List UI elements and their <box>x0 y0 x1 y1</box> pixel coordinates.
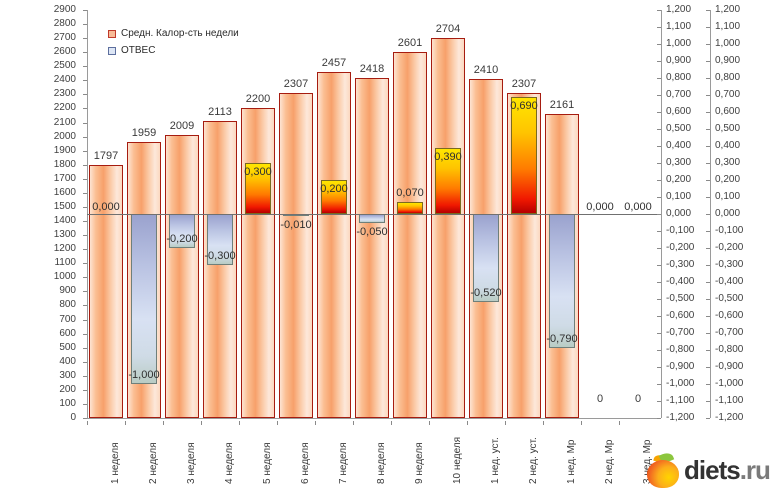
x-axis-tick <box>163 421 164 425</box>
x-axis-category-label: 2 нед. Мр <box>604 440 615 485</box>
x-axis-tick <box>391 421 392 425</box>
y-axis-tick-label: 500 <box>30 343 76 353</box>
x-axis-category-label: 10 неделя <box>452 437 463 484</box>
y-axis-tick-label: 600 <box>30 329 76 339</box>
y-axis-right-line <box>661 10 662 418</box>
y-axis-tick-label: 0,800 <box>715 73 740 83</box>
y-axis-tick-label: 2600 <box>30 47 76 57</box>
y-axis-tick-label: 1100 <box>30 258 76 268</box>
weight-bar[interactable] <box>131 214 157 384</box>
weight-value-label: -0,010 <box>271 219 321 231</box>
logo-name: diets <box>684 455 740 485</box>
y-axis-tick-label: -1,200 <box>715 413 743 423</box>
weight-value-label: 0,070 <box>385 187 435 199</box>
calorie-value-label: 2418 <box>345 63 399 75</box>
weight-value-label: -0,520 <box>461 287 511 299</box>
x-axis-category-label: 3 неделя <box>186 442 197 484</box>
calorie-bar[interactable] <box>203 121 237 418</box>
y-axis-tick-label: -0,400 <box>715 277 743 287</box>
y-axis-tick-label: 1400 <box>30 216 76 226</box>
legend-label-calories: Средн. Калор-сть недели <box>121 28 239 39</box>
calorie-value-label: 2009 <box>155 120 209 132</box>
y-axis-tick-label: 2500 <box>30 61 76 71</box>
y-axis-tick-label: -0,900 <box>715 362 743 372</box>
y-axis-tick-label: 1,200 <box>666 5 691 15</box>
legend-item-calories[interactable]: Средн. Калор-сть недели <box>108 25 239 42</box>
y-axis-tick-label: -0,700 <box>715 328 743 338</box>
y-axis-tick-label: 2900 <box>30 5 76 15</box>
x-axis-tick <box>239 421 240 425</box>
y-axis-tick-label: 0,300 <box>666 158 691 168</box>
x-axis-category-label: 1 неделя <box>110 442 121 484</box>
y-axis-tick-label: -0,100 <box>666 226 694 236</box>
y-axis-tick-label: -0,800 <box>715 345 743 355</box>
y-axis-tick-label: 2800 <box>30 19 76 29</box>
weight-value-label: 0,690 <box>499 100 549 112</box>
y-axis-tick-label: -1,000 <box>666 379 694 389</box>
x-axis-category-label: 4 неделя <box>224 442 235 484</box>
y-axis-tick-label: 1,000 <box>715 39 740 49</box>
y-axis-tick-label: -0,300 <box>715 260 743 270</box>
y-axis-tick-label: 1500 <box>30 202 76 212</box>
y-axis-tick-label: 1,000 <box>666 39 691 49</box>
calorie-bar[interactable] <box>241 108 275 418</box>
weight-value-label: 0,000 <box>613 201 663 213</box>
y-axis-tick-label: 100 <box>30 399 76 409</box>
y-axis-tick-label: -0,300 <box>666 260 694 270</box>
y-axis-tick-label: 0,500 <box>715 124 740 134</box>
y-axis-tick-label: -1,000 <box>715 379 743 389</box>
y-axis-tick-label: -0,400 <box>666 277 694 287</box>
y-axis-tick-label: -0,100 <box>715 226 743 236</box>
y-axis-tick-label: -1,100 <box>715 396 743 406</box>
y-axis-tick-label: 0,200 <box>666 175 691 185</box>
x-axis-line <box>87 418 657 419</box>
x-axis-tick <box>543 421 544 425</box>
x-axis-category-label: 7 неделя <box>338 442 349 484</box>
calorie-value-label: 2307 <box>269 78 323 90</box>
weight-bar[interactable] <box>397 202 423 214</box>
weight-value-label: 0,200 <box>309 183 359 195</box>
zero-baseline <box>87 214 657 215</box>
y-axis-tick-label: 2000 <box>30 132 76 142</box>
calorie-bar[interactable] <box>393 52 427 418</box>
x-axis-category-label: 2 нед. уст. <box>528 437 539 484</box>
y-axis-tick-label: 0,900 <box>715 56 740 66</box>
weight-value-label: -0,300 <box>195 250 245 262</box>
legend-swatch-calories <box>108 30 116 38</box>
y-axis-tick-label: 0,400 <box>715 141 740 151</box>
x-axis-tick <box>277 421 278 425</box>
y-axis-tick-label: 1,100 <box>715 22 740 32</box>
y-axis-tick-label: -0,800 <box>666 345 694 355</box>
y-axis-tick-label: -0,500 <box>715 294 743 304</box>
x-axis-tick <box>581 421 582 425</box>
x-axis-category-label: 2 неделя <box>148 442 159 484</box>
calorie-value-label: 2200 <box>231 93 285 105</box>
calorie-value-label: 2410 <box>459 64 513 76</box>
apple-body <box>647 460 679 488</box>
y-axis-tick-label: -1,100 <box>666 396 694 406</box>
weight-value-label: 0,000 <box>81 201 131 213</box>
y-axis-tick-label: 1300 <box>30 230 76 240</box>
y-axis-right-line <box>710 10 711 418</box>
weight-bar[interactable] <box>549 214 575 348</box>
y-axis-tick-label: -0,600 <box>715 311 743 321</box>
y-axis-tick-label: 1,200 <box>715 5 740 15</box>
y-axis-tick-label: 0,200 <box>715 175 740 185</box>
y-axis-tick-label: 2100 <box>30 118 76 128</box>
y-axis-tick-label: 0,400 <box>666 141 691 151</box>
y-axis-tick-label: -0,500 <box>666 294 694 304</box>
x-axis-tick <box>353 421 354 425</box>
y-axis-tick-label: 0,100 <box>666 192 691 202</box>
y-axis-tick-label: 2200 <box>30 103 76 113</box>
y-axis-tick-label: 0,700 <box>715 90 740 100</box>
calorie-bar[interactable] <box>431 38 465 418</box>
calorie-bar[interactable] <box>317 72 351 418</box>
calorie-value-label: 2601 <box>383 37 437 49</box>
y-axis-tick-label: 300 <box>30 371 76 381</box>
apple-icon <box>645 452 681 488</box>
y-axis-tick-label: 400 <box>30 357 76 367</box>
x-axis-tick <box>125 421 126 425</box>
calorie-value-label: 1797 <box>79 150 133 162</box>
weight-bar[interactable] <box>511 97 537 214</box>
y-axis-tick-label: -1,200 <box>666 413 694 423</box>
y-axis-tick-label: 0,000 <box>666 209 691 219</box>
calorie-value-label: 0 <box>611 393 665 405</box>
y-axis-tick-label: -0,700 <box>666 328 694 338</box>
y-axis-tick-label: -0,200 <box>715 243 743 253</box>
legend-swatch-weight <box>108 47 116 55</box>
y-axis-tick-label: 1900 <box>30 146 76 156</box>
site-logo: diets.ru <box>645 452 770 488</box>
y-axis-tick-label: 2400 <box>30 75 76 85</box>
y-axis-tick-label: 2300 <box>30 89 76 99</box>
weight-value-label: -1,000 <box>119 369 169 381</box>
y-axis-tick-label: 0,000 <box>715 209 740 219</box>
x-axis-tick <box>87 421 88 425</box>
x-axis-tick <box>201 421 202 425</box>
x-axis-category-label: 8 неделя <box>376 442 387 484</box>
weight-bar[interactable] <box>359 214 385 223</box>
x-axis-category-label: 6 неделя <box>300 442 311 484</box>
weight-value-label: -0,050 <box>347 226 397 238</box>
calorie-bar[interactable] <box>165 135 199 418</box>
weight-value-label: 0,300 <box>233 166 283 178</box>
weight-value-label: -0,200 <box>157 233 207 245</box>
x-axis-category-label: 9 неделя <box>414 442 425 484</box>
y-axis-tick-label: 700 <box>30 315 76 325</box>
calorie-bar[interactable] <box>279 93 313 418</box>
chart-container: 0100200300400500600700800900100011001200… <box>0 0 772 497</box>
y-axis-tick-label: 0,900 <box>666 56 691 66</box>
x-axis-category-label: 5 неделя <box>262 442 273 484</box>
y-axis-tick-label: -0,200 <box>666 243 694 253</box>
x-axis-tick <box>429 421 430 425</box>
y-axis-tick-label: 0 <box>30 413 76 423</box>
y-axis-tick-label: 1600 <box>30 188 76 198</box>
calorie-bar[interactable] <box>355 78 389 418</box>
legend-label-weight: ОТВЕС <box>121 45 155 56</box>
x-axis-tick <box>505 421 506 425</box>
y-axis-tick-label: 1700 <box>30 174 76 184</box>
y-axis-tick-label: 200 <box>30 385 76 395</box>
y-axis-tick-label: 1800 <box>30 160 76 170</box>
y-axis-tick-label: 0,700 <box>666 90 691 100</box>
weight-value-label: -0,790 <box>537 333 587 345</box>
y-axis-tick-label: 0,600 <box>666 107 691 117</box>
y-axis-tick-label: 0,100 <box>715 192 740 202</box>
weight-value-label: 0,390 <box>423 151 473 163</box>
logo-wordmark: diets.ru <box>684 455 770 486</box>
y-axis-tick <box>706 418 710 419</box>
y-axis-tick-label: 800 <box>30 300 76 310</box>
x-axis-category-label: 1 нед. уст. <box>490 437 501 484</box>
y-axis-tick-label: 0,500 <box>666 124 691 134</box>
y-axis-tick-label: 1,100 <box>666 22 691 32</box>
x-axis-category-label: 1 нед. Мр <box>566 440 577 485</box>
x-axis-tick <box>619 421 620 425</box>
calorie-value-label: 2113 <box>193 106 247 118</box>
y-axis-tick-label: 1000 <box>30 272 76 282</box>
chart-legend: Средн. Калор-сть недели ОТВЕС <box>108 25 239 59</box>
x-axis-tick <box>315 421 316 425</box>
y-axis-tick-label: 0,300 <box>715 158 740 168</box>
legend-item-weight[interactable]: ОТВЕС <box>108 42 239 59</box>
x-axis-tick <box>467 421 468 425</box>
y-axis-tick-label: 2700 <box>30 33 76 43</box>
calorie-value-label: 2704 <box>421 23 475 35</box>
y-axis-tick-label: 0,800 <box>666 73 691 83</box>
logo-tld: .ru <box>740 455 770 485</box>
y-axis-tick-label: -0,900 <box>666 362 694 372</box>
y-axis-tick-label: 0,600 <box>715 107 740 117</box>
calorie-value-label: 2307 <box>497 78 551 90</box>
y-axis-tick-label: 900 <box>30 286 76 296</box>
y-axis-tick-label: 1200 <box>30 244 76 254</box>
y-axis-tick-label: -0,600 <box>666 311 694 321</box>
y-axis-tick <box>657 418 661 419</box>
